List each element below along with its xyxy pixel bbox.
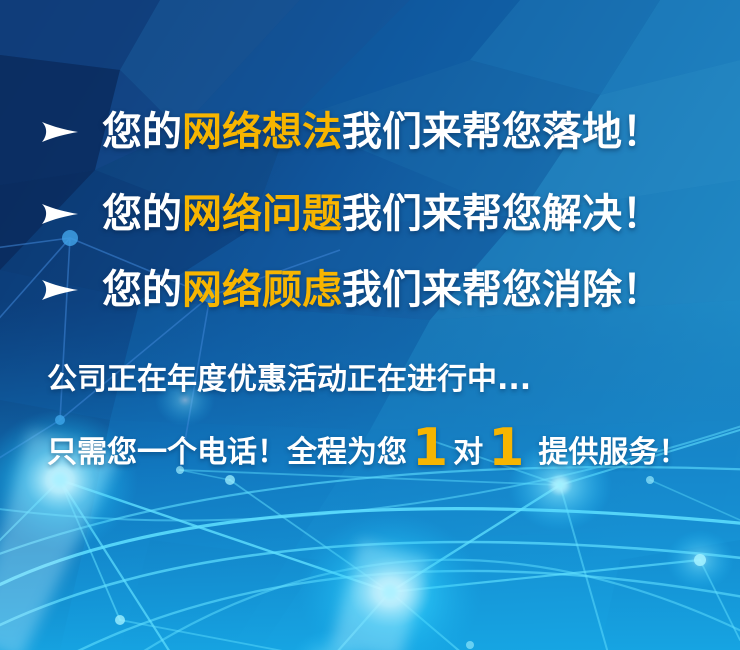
promo-subline: 公司正在年度优惠活动正在进行中... [47,360,531,400]
headline-suffix: 我们来帮您落地！ [342,109,662,155]
headline-highlight: 网络顾虑 [182,267,342,313]
promo-banner: 您的网络想法我们来帮您落地！ 您的网络问题我们来帮您解决！ 您的网络顾虑我们来帮… [0,0,740,650]
cta-text-part2: 提供服务！ [538,433,688,473]
headline-text: 您的网络想法我们来帮您落地！ [102,108,662,156]
headline-text: 您的网络问题我们来帮您解决！ [102,190,662,238]
headline-highlight: 网络想法 [182,109,342,155]
headline-highlight: 网络问题 [182,191,342,237]
cta-middle-char: 对 [453,433,483,473]
headline-text: 您的网络顾虑我们来帮您消除！ [102,266,662,314]
headline-prefix: 您的 [102,191,182,237]
cta-text-part1: 只需您一个电话！全程为您 [47,433,407,473]
cta-subline: 只需您一个电话！全程为您 1 对 1 提供服务！ [47,425,688,473]
headline-row: 您的网络问题我们来帮您解决！ [40,190,662,238]
headline-suffix: 我们来帮您消除！ [342,267,662,313]
headline-suffix: 我们来帮您解决！ [342,191,662,237]
arrow-right-icon [40,277,80,303]
headline-prefix: 您的 [102,267,182,313]
banner-content: 您的网络想法我们来帮您落地！ 您的网络问题我们来帮您解决！ 您的网络顾虑我们来帮… [0,0,740,650]
one-to-one-second-numeral: 1 [483,428,529,468]
headline-row: 您的网络顾虑我们来帮您消除！ [40,266,662,314]
one-to-one-first-numeral: 1 [407,428,453,468]
headline-prefix: 您的 [102,109,182,155]
arrow-right-icon [40,201,80,227]
arrow-right-icon [40,119,80,145]
headline-row: 您的网络想法我们来帮您落地！ [40,108,662,156]
